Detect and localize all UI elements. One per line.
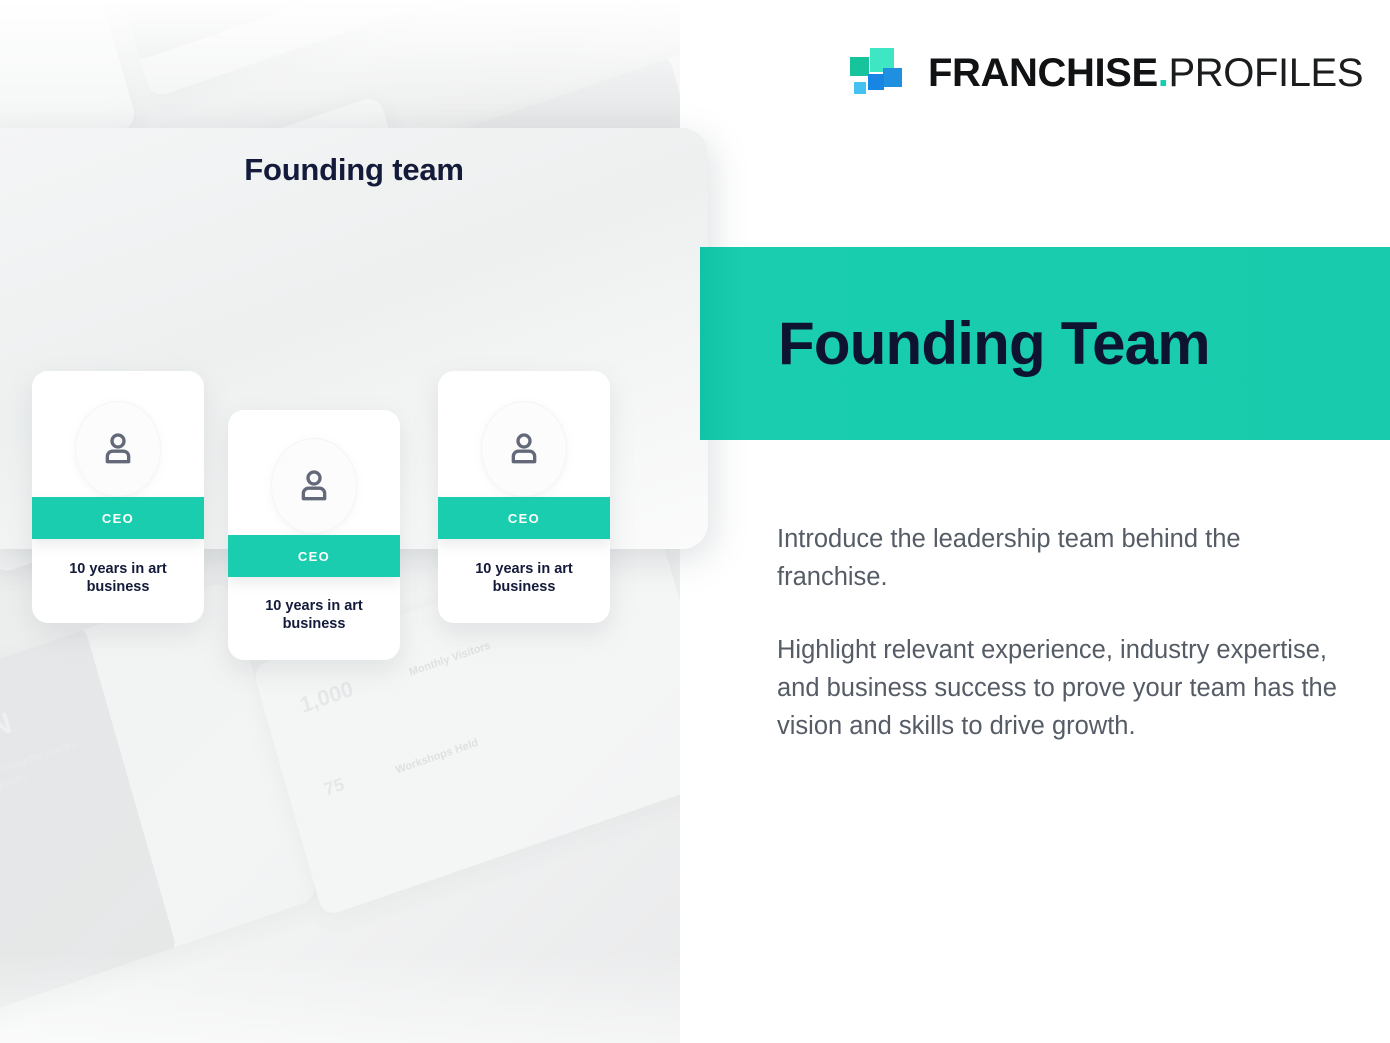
description-paragraph-2: Highlight relevant experience, industry … [777,632,1347,745]
person-icon [294,466,334,506]
role-badge-label-2: CEO [298,549,330,564]
role-badge-label-1: CEO [102,511,134,526]
slide-preview-card[interactable]: Founding team CEO 10 years in art busine… [0,128,708,549]
logo-square-cyan-tiny-icon [854,82,866,94]
member-description-2: 10 years in art business [236,598,392,633]
background-traction-blob [0,620,179,1042]
logo-mark-squares-icon [848,44,906,102]
background-metric-value-2: 75 [322,774,347,801]
background-slide-problem: THE PROBLEM Many workshops and communiti… [60,0,595,99]
brand-logo[interactable]: FRANCHISE.PROFILES [848,44,1363,102]
description-paragraph-1: Introduce the leadership team behind the… [777,521,1347,596]
member-description-3: 10 years in art business [446,561,602,596]
slide-preview-title: Founding team [0,152,708,188]
background-cover-band [0,0,114,85]
team-member-card-1[interactable]: CEO 10 years in art business [32,371,204,623]
person-icon [504,429,544,469]
team-member-card-2[interactable]: CEO 10 years in art business [228,410,400,660]
logo-word-profiles: PROFILES [1168,51,1363,95]
avatar-circle-2 [271,438,357,534]
background-metric-label-2: Workshops Held [394,718,531,778]
role-badge-label-3: CEO [508,511,540,526]
role-badge-2: CEO [228,535,400,577]
logo-square-teal-icon [850,57,869,76]
background-metric-value-1: 1,000 [297,676,356,719]
avatar-area-2 [228,432,400,540]
avatar-circle-3 [481,401,567,497]
logo-word-franchise: FRANCHISE [928,51,1158,95]
logo-square-blue-small-icon [868,74,884,90]
avatar-area-3 [438,395,610,503]
logo-wordmark: FRANCHISE.PROFILES [928,53,1363,93]
member-description-1: 10 years in art business [40,561,196,596]
section-title: Founding Team [778,314,1210,374]
role-badge-1: CEO [32,497,204,539]
slide-canvas: MARKET ces in urban and a substantial ↷ … [0,0,1390,1043]
team-member-card-3[interactable]: CEO 10 years in art business [438,371,610,623]
avatar-area-1 [32,395,204,503]
avatar-circle-1 [75,401,161,497]
background-metric-label-1: Monthly Visitors [408,624,535,681]
role-badge-3: CEO [438,497,610,539]
logo-dot: . [1158,51,1169,95]
section-title-banner: Founding Team [700,247,1390,440]
section-description: Introduce the leadership team behind the… [777,521,1347,746]
logo-square-blue-icon [883,68,902,87]
person-icon [98,429,138,469]
